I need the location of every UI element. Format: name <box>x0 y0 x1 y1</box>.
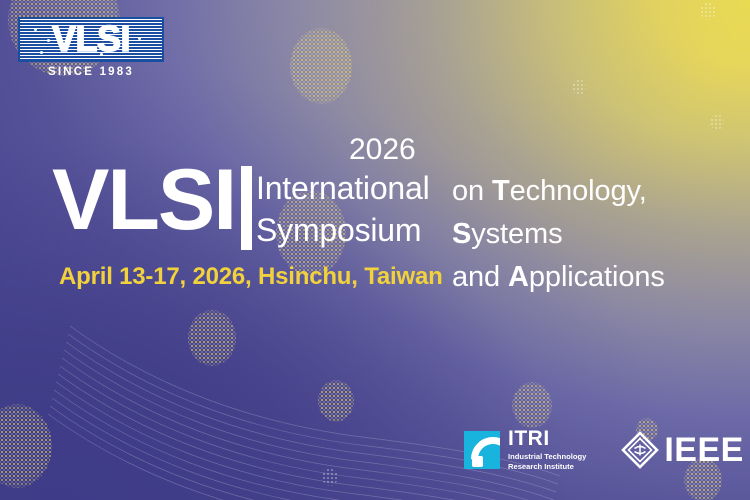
itri-subtitle: Industrial Technology Research Institute <box>508 452 586 472</box>
headline-year: 2026 <box>349 133 416 167</box>
event-dateline: April 13-17, 2026, Hsinchu, Taiwan <box>59 263 443 291</box>
ieee-diamond-icon <box>620 430 660 470</box>
subject-line-applications: and Applications <box>452 256 665 299</box>
headline-line-symposium: Symposium <box>256 209 430 251</box>
ieee-wordmark: IEEE <box>664 431 743 470</box>
subject-line-technology: on Technology, <box>452 170 665 213</box>
headline-line-international: International <box>256 167 430 209</box>
itri-text: ITRI Industrial Technology Research Inst… <box>508 428 586 472</box>
subject-line-systems: Systems <box>452 213 665 256</box>
headline-symposium-name: International Symposium <box>256 167 430 251</box>
headline-divider-bar <box>241 166 252 250</box>
itri-logo: ITRI Industrial Technology Research Inst… <box>464 428 586 472</box>
ieee-logo: IEEE <box>620 430 743 470</box>
headline-acronym: VLSI <box>52 157 235 243</box>
sponsor-logos: ITRI Industrial Technology Research Inst… <box>464 428 744 472</box>
itri-name: ITRI <box>508 428 586 449</box>
itri-mark-icon <box>464 431 500 469</box>
headline-block: VLSI International Symposium 2026 on Tec… <box>0 0 750 500</box>
conference-banner: VLSI SINCE 1983 VLSI International Sympo… <box>0 0 750 500</box>
headline-subject: on Technology, Systems and Applications <box>452 170 665 299</box>
